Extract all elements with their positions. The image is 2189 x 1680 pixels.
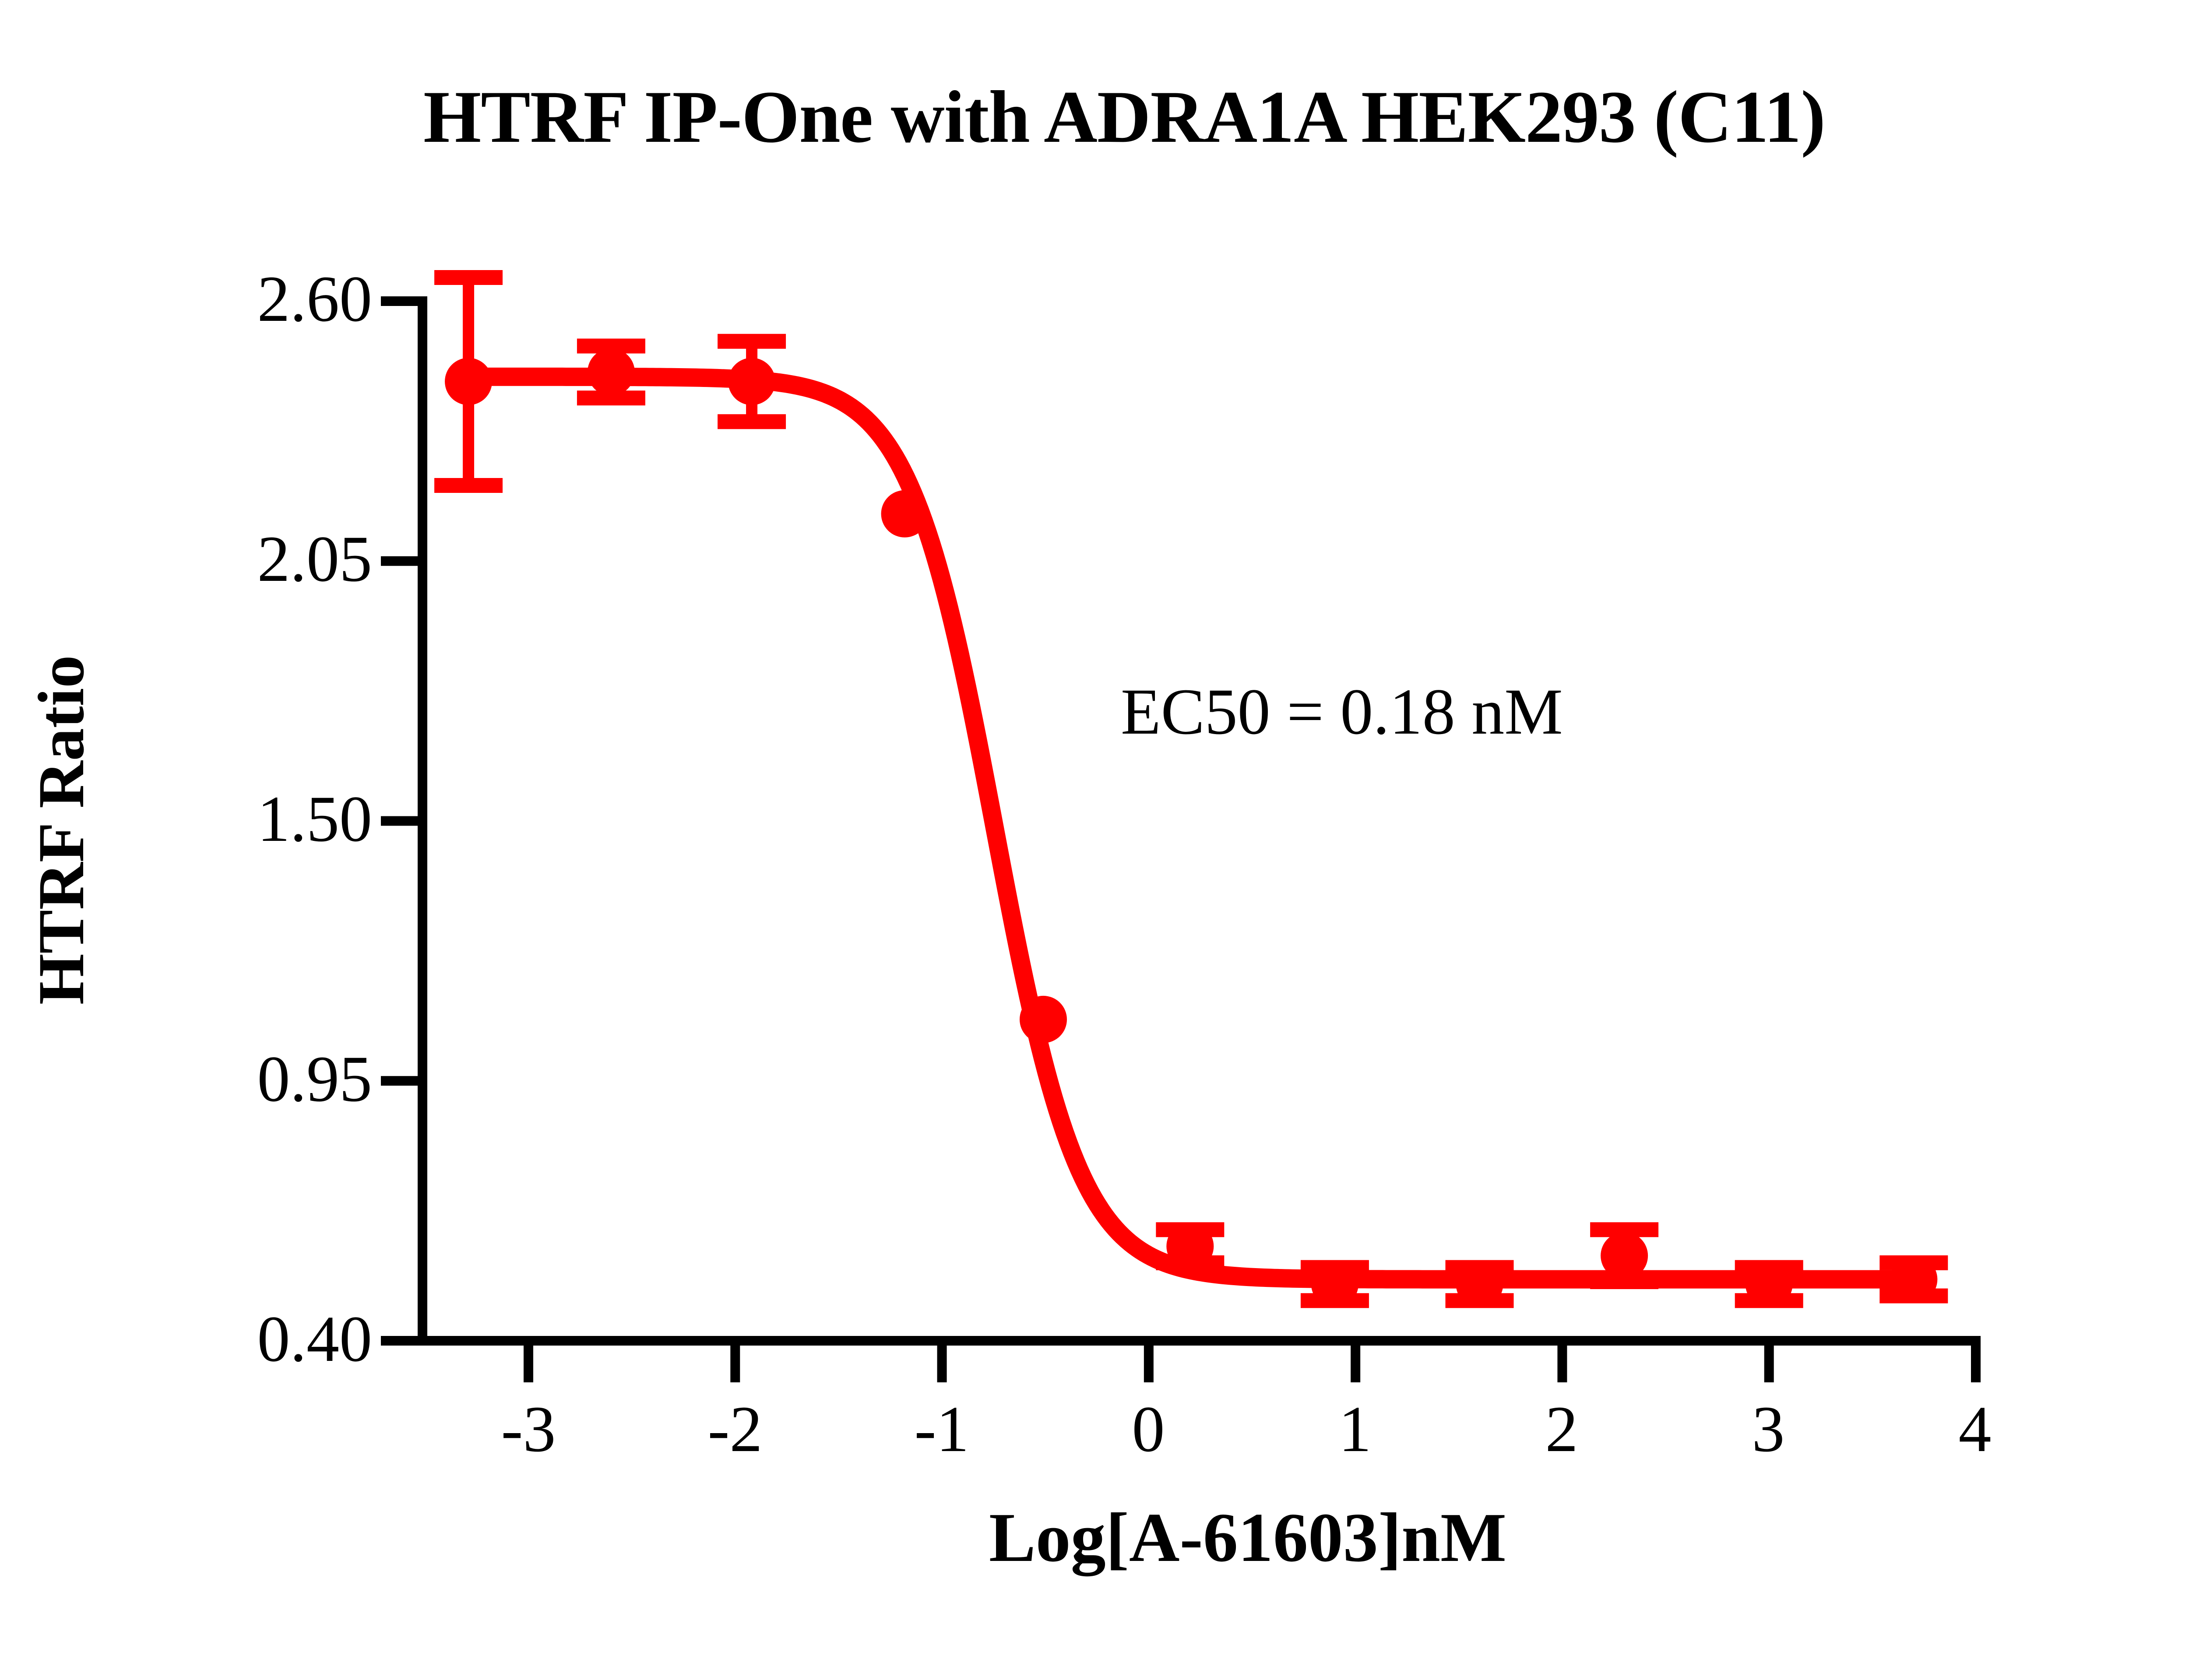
data-points — [445, 348, 1937, 1308]
fit-curve — [468, 377, 1914, 1279]
data-point-7 — [1456, 1260, 1503, 1307]
chart-figure: HTRF IP-One with ADRA1A HEK293 (C11) EC5… — [0, 0, 2189, 1680]
data-point-3 — [881, 490, 929, 538]
data-point-2 — [728, 358, 775, 405]
data-point-0 — [445, 358, 492, 405]
data-point-10 — [1890, 1256, 1937, 1303]
data-point-8 — [1601, 1232, 1648, 1279]
data-point-6 — [1311, 1260, 1358, 1307]
plot-area — [0, 0, 2189, 1680]
fit-curve-path — [468, 377, 1914, 1279]
data-point-1 — [588, 348, 635, 396]
data-point-5 — [1166, 1223, 1214, 1270]
data-point-9 — [1746, 1260, 1793, 1307]
error-bars — [434, 278, 1948, 1300]
axes-layer — [381, 296, 1981, 1382]
data-point-4 — [1020, 996, 1067, 1043]
